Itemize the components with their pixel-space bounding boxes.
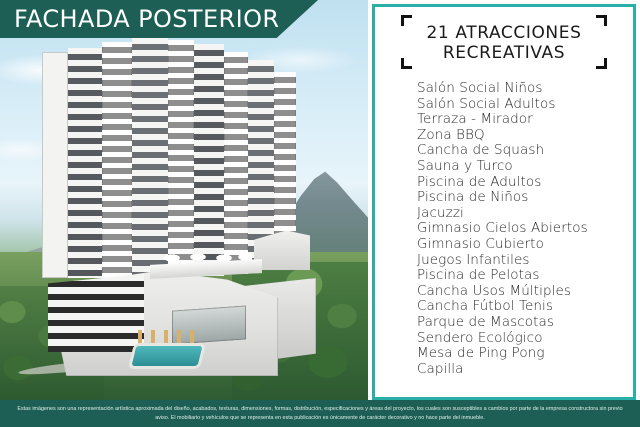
amenities-list: Salón Social NiñosSalón Social AdultosTe… xyxy=(417,81,633,377)
banner-title: FACHADA POSTERIOR xyxy=(0,5,279,33)
footer-disclaimer-text: Estas imágenes son una representación ar… xyxy=(5,405,635,423)
poster-root: FACHADA POSTERIOR 21 ATRACCIONES RECREAT… xyxy=(0,0,640,427)
swimming-pool xyxy=(132,346,203,366)
amenity-item: Zona BBQ xyxy=(417,128,633,144)
amenity-item: Cancha Fútbol Tenis xyxy=(417,299,633,315)
corner-bracket-bottom-left-icon xyxy=(401,58,412,69)
podium-parking-bands xyxy=(48,274,144,352)
amenity-item: Piscina de Niños xyxy=(417,190,633,206)
residential-tower xyxy=(42,38,300,338)
heading-line-1: 21 ATRACCIONES xyxy=(413,23,595,43)
amenity-item: Mesa de Ping Pong xyxy=(417,346,633,362)
corner-bracket-top-left-icon xyxy=(401,15,412,26)
amenity-item: Terraza - Mirador xyxy=(417,112,633,128)
amenity-item: Capilla xyxy=(417,362,633,378)
amenity-item: Salón Social Adultos xyxy=(417,97,633,113)
amenity-item: Sendero Ecológico xyxy=(417,331,633,347)
amenity-item: Piscina de Adultos xyxy=(417,175,633,191)
legal-footer: Estas imágenes son una representación ar… xyxy=(0,400,640,427)
amenity-item: Cancha Usos Múltiples xyxy=(417,284,633,300)
corner-bracket-top-right-icon xyxy=(596,15,607,26)
amenity-item: Piscina de Pelotas xyxy=(417,268,633,284)
amenity-item: Juegos Infantiles xyxy=(417,253,633,269)
amenity-item: Gimnasio Cubierto xyxy=(417,237,633,253)
amenity-item: Sauna y Turco xyxy=(417,159,633,175)
amenities-heading: 21 ATRACCIONES RECREATIVAS xyxy=(413,17,595,67)
amenities-panel: 21 ATRACCIONES RECREATIVAS Salón Social … xyxy=(372,4,636,400)
heading-line-2: RECREATIVAS xyxy=(413,43,595,63)
amenity-item: Cancha de Squash xyxy=(417,143,633,159)
amenity-item: Parque de Mascotas xyxy=(417,315,633,331)
amenity-item: Gimnasio Cielos Abiertos xyxy=(417,221,633,237)
header-banner: FACHADA POSTERIOR xyxy=(0,0,318,38)
amenity-item: Salón Social Niños xyxy=(417,81,633,97)
amenity-item: Jacuzzi xyxy=(417,206,633,222)
corner-bracket-bottom-right-icon xyxy=(596,58,607,69)
building-render-image xyxy=(0,0,368,400)
